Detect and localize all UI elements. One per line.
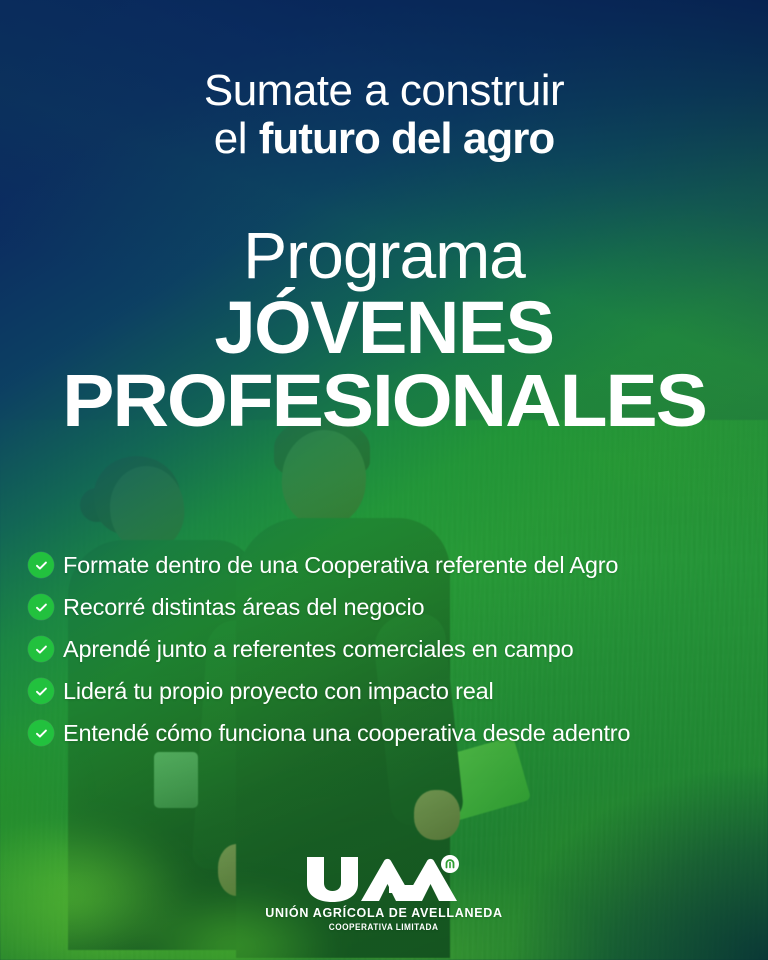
- list-item: Liderá tu propio proyecto con impacto re…: [28, 670, 748, 712]
- uaa-logo: UNIÓN AGRÍCOLA DE AVELLANEDA COOPERATIVA…: [0, 855, 768, 932]
- headline: Sumate a construir el futuro del agro: [0, 68, 768, 162]
- title-eyebrow: Programa: [0, 222, 768, 288]
- headline-line-1: Sumate a construir: [0, 68, 768, 114]
- title-line-2: PROFESIONALES: [0, 365, 768, 436]
- benefit-text: Aprendé junto a referentes comerciales e…: [63, 636, 574, 663]
- logo-name: UNIÓN AGRÍCOLA DE AVELLANEDA: [265, 906, 502, 920]
- benefit-text: Entendé cómo funciona una cooperativa de…: [63, 720, 630, 747]
- benefit-text: Formate dentro de una Cooperativa refere…: [63, 552, 618, 579]
- list-item: Recorré distintas áreas del negocio: [28, 586, 748, 628]
- benefit-text: Liderá tu propio proyecto con impacto re…: [63, 678, 494, 705]
- benefit-text: Recorré distintas áreas del negocio: [63, 594, 424, 621]
- check-circle-icon: [28, 678, 54, 704]
- benefits-list: Formate dentro de una Cooperativa refere…: [28, 544, 748, 754]
- list-item: Entendé cómo funciona una cooperativa de…: [28, 712, 748, 754]
- headline-line-2: el futuro del agro: [0, 116, 768, 162]
- check-circle-icon: [28, 720, 54, 746]
- uaa-logomark-icon: [303, 855, 465, 903]
- headline-line-2-light: el: [214, 114, 259, 163]
- check-circle-icon: [28, 594, 54, 620]
- list-item: Formate dentro de una Cooperativa refere…: [28, 544, 748, 586]
- check-circle-icon: [28, 636, 54, 662]
- headline-line-2-bold: futuro del agro: [259, 114, 554, 163]
- promotional-poster: Sumate a construir el futuro del agro Pr…: [0, 0, 768, 960]
- check-circle-icon: [28, 552, 54, 578]
- program-title: Programa JÓVENES PROFESIONALES: [0, 222, 768, 436]
- title-line-1: JÓVENES: [0, 292, 768, 363]
- list-item: Aprendé junto a referentes comerciales e…: [28, 628, 748, 670]
- poster-content: Sumate a construir el futuro del agro Pr…: [0, 0, 768, 960]
- logo-subtitle: COOPERATIVA LIMITADA: [329, 922, 439, 932]
